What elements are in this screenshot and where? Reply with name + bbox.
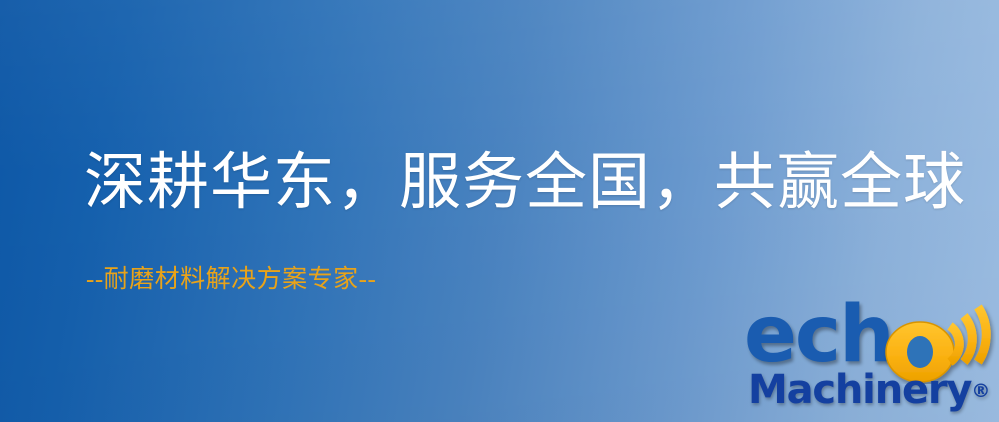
banner-headline: 深耕华东，服务全国，共赢全球 bbox=[84, 152, 966, 214]
promo-banner: 深耕华东，服务全国，共赢全球 --耐磨材料解决方案专家-- ech bbox=[0, 0, 999, 422]
logo-wordmark: ech bbox=[744, 298, 893, 374]
wifi-signal-arcs-icon bbox=[950, 307, 986, 362]
banner-subheadline: --耐磨材料解决方案专家-- bbox=[86, 266, 376, 294]
logo-machinery-text: Machinery bbox=[748, 367, 971, 413]
echo-machinery-logo: ech bbox=[744, 298, 996, 420]
registered-trademark-icon: ® bbox=[971, 380, 990, 402]
logo-company-name: Machinery® bbox=[748, 370, 990, 410]
logo-echo-text: ech bbox=[744, 298, 893, 372]
